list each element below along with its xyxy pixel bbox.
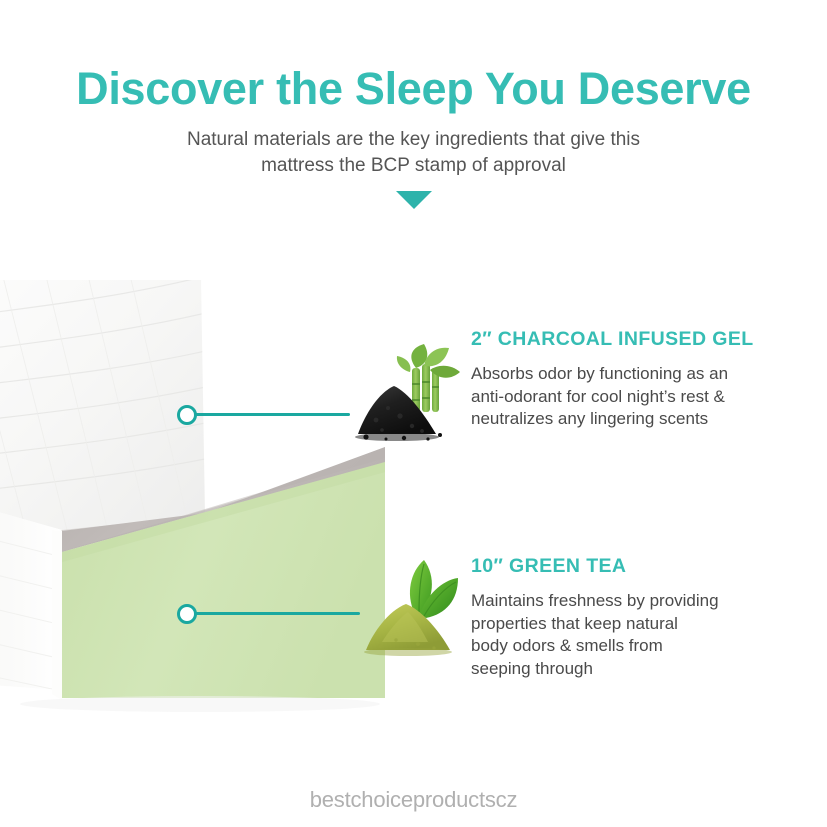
feature-greentea: 10″ GREEN TEA Maintains freshness by pro… bbox=[471, 554, 801, 680]
page-title: Discover the Sleep You Deserve bbox=[0, 0, 827, 116]
feature-charcoal: 2″ CHARCOAL INFUSED GEL Absorbs odor by … bbox=[471, 327, 801, 431]
subtitle-line-1: Natural materials are the key ingredient… bbox=[134, 127, 694, 153]
callout-dot-icon-charcoal bbox=[177, 405, 197, 425]
mattress-cutaway-icon bbox=[0, 280, 400, 720]
feature-greentea-title: 10″ GREEN TEA bbox=[471, 554, 801, 578]
feature-greentea-body: Maintains freshness by providing propert… bbox=[471, 578, 801, 680]
feature-greentea-body-line-3: body odors & smells from bbox=[471, 635, 801, 658]
charcoal-powder-bamboo-icon bbox=[352, 342, 464, 446]
triangle-down-icon bbox=[396, 191, 432, 209]
green-tea-powder-leaves-icon bbox=[362, 556, 474, 660]
feature-charcoal-body-line-1: Absorbs odor by functioning as an bbox=[471, 363, 801, 386]
subtitle-line-2: mattress the BCP stamp of approval bbox=[134, 153, 694, 179]
callout-line-greentea bbox=[192, 612, 360, 615]
callout-dot-icon-greentea bbox=[177, 604, 197, 624]
feature-greentea-body-line-4: seeping through bbox=[471, 658, 801, 681]
feature-charcoal-title: 2″ CHARCOAL INFUSED GEL bbox=[471, 327, 801, 351]
feature-charcoal-body: Absorbs odor by functioning as an anti-o… bbox=[471, 351, 801, 431]
footer-brand: bestchoiceproductscz bbox=[0, 787, 827, 813]
feature-greentea-body-line-1: Maintains freshness by providing bbox=[471, 590, 801, 613]
feature-charcoal-body-line-2: anti-odorant for cool night’s rest & bbox=[471, 386, 801, 409]
feature-greentea-body-line-2: properties that keep natural bbox=[471, 613, 801, 636]
infographic-canvas: Discover the Sleep You Deserve Natural m… bbox=[0, 0, 827, 827]
callout-line-charcoal bbox=[192, 413, 350, 416]
header-block: Discover the Sleep You Deserve Natural m… bbox=[0, 0, 827, 179]
page-subtitle: Natural materials are the key ingredient… bbox=[134, 116, 694, 179]
feature-charcoal-body-line-3: neutralizes any lingering scents bbox=[471, 408, 801, 431]
